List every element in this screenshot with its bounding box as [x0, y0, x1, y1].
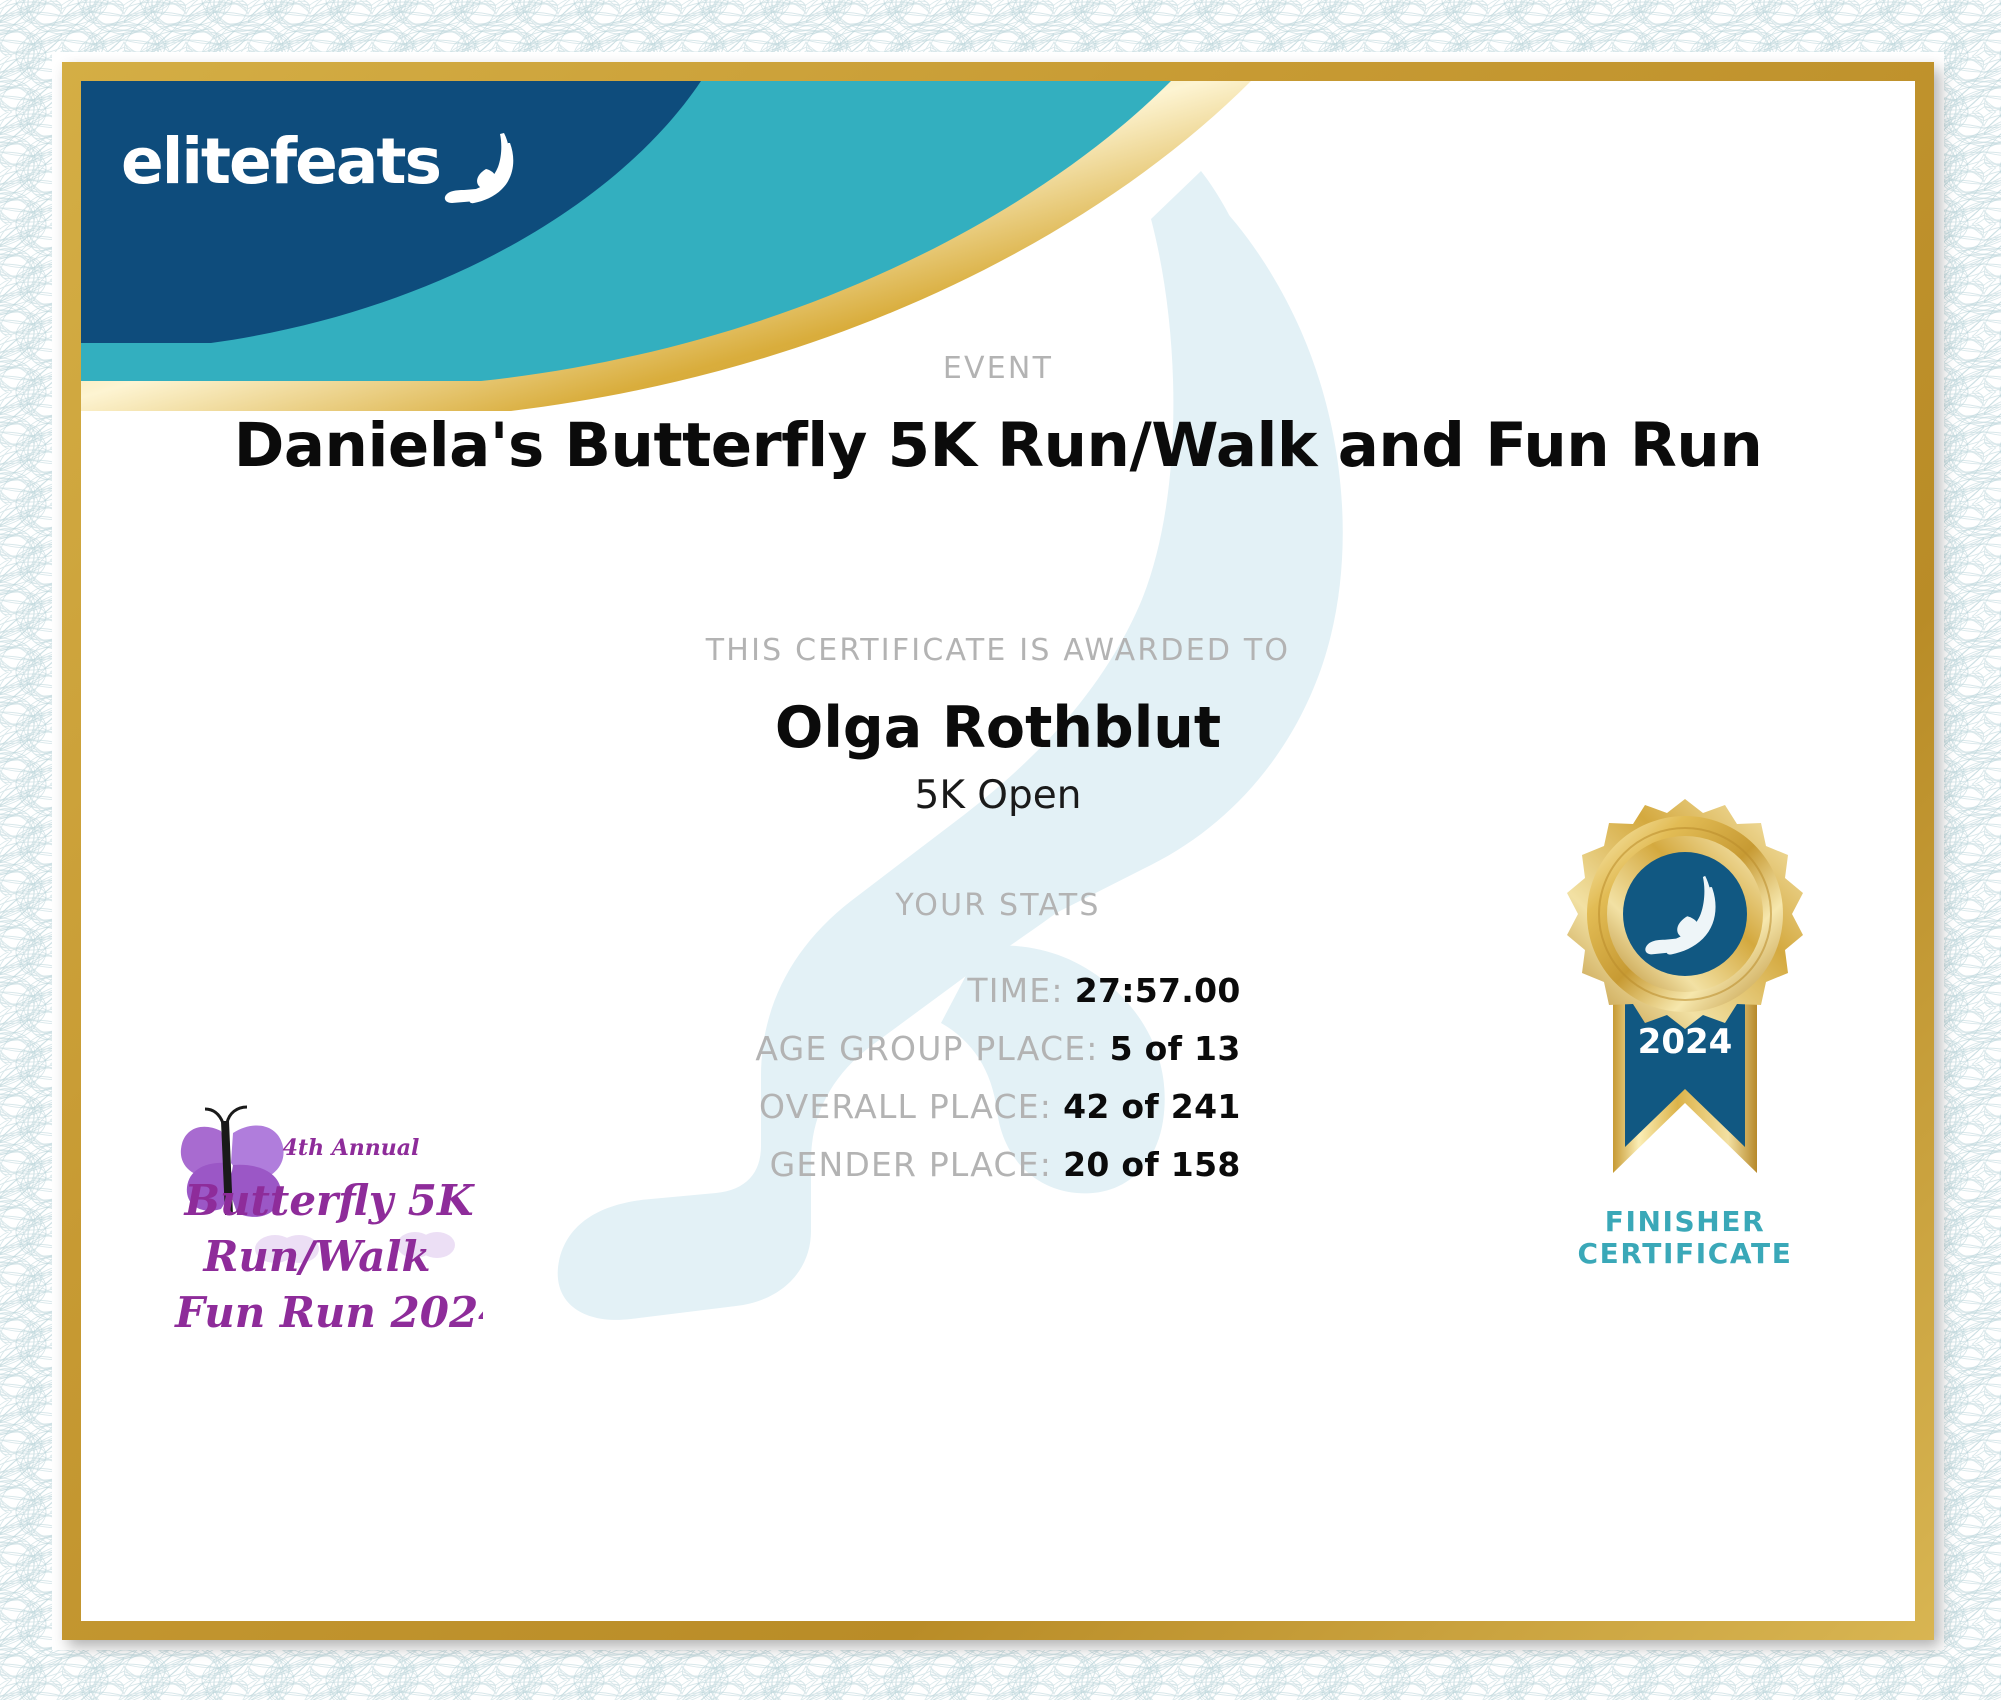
event-label: EVENT	[81, 351, 1915, 386]
stat-key: AGE GROUP PLACE:	[755, 1029, 1098, 1068]
elitefeats-logo: elitefeats	[121, 129, 528, 193]
winged-foot-icon	[442, 129, 528, 209]
stats-list: TIME: 27:57.00 AGE GROUP PLACE: 5 of 13 …	[755, 971, 1240, 1203]
certificate-sheet: elitefeats EVENT Daniela's Butterfly 5K …	[81, 81, 1915, 1621]
certificate-page: elitefeats EVENT Daniela's Butterfly 5K …	[0, 0, 2001, 1700]
race-logo-line3: & Fun Run 2024	[163, 1288, 483, 1337]
stat-value: 20 of 158	[1063, 1145, 1241, 1184]
recipient-name: Olga Rothblut	[81, 695, 1915, 761]
stat-row-gender-place: GENDER PLACE: 20 of 158	[755, 1145, 1240, 1184]
race-logo-annual: 4th Annual	[283, 1135, 420, 1161]
stat-value: 27:57.00	[1075, 971, 1241, 1010]
gold-frame: elitefeats EVENT Daniela's Butterfly 5K …	[62, 62, 1934, 1640]
race-logo-line2: Run/Walk	[202, 1232, 430, 1281]
stat-row-age-group-place: AGE GROUP PLACE: 5 of 13	[755, 1029, 1240, 1068]
stat-key: OVERALL PLACE:	[759, 1087, 1052, 1126]
finisher-medal: 2024	[1535, 791, 1835, 1301]
race-logo-line1: Butterfly 5K	[184, 1176, 475, 1225]
stat-value: 5 of 13	[1110, 1029, 1241, 1068]
event-title: Daniela's Butterfly 5K Run/Walk and Fun …	[81, 410, 1915, 481]
elitefeats-wordmark: elitefeats	[121, 130, 440, 193]
awarded-to-label: THIS CERTIFICATE IS AWARDED TO	[81, 633, 1915, 668]
medal-caption: FINISHER CERTIFICATE	[1535, 1206, 1835, 1270]
medal-caption-line1: FINISHER	[1535, 1206, 1835, 1238]
medal-graphic: 2024	[1535, 791, 1835, 1211]
stat-row-time: TIME: 27:57.00	[755, 971, 1240, 1010]
medal-caption-line2: CERTIFICATE	[1535, 1238, 1835, 1270]
stat-row-overall-place: OVERALL PLACE: 42 of 241	[755, 1087, 1240, 1126]
stat-key: TIME:	[967, 971, 1063, 1010]
race-event-logo: 4th Annual Butterfly 5K Run/Walk & Fun R…	[163, 1103, 483, 1353]
medal-rosette	[1567, 799, 1803, 1029]
stat-value: 42 of 241	[1063, 1087, 1241, 1126]
stat-key: GENDER PLACE:	[770, 1145, 1052, 1184]
